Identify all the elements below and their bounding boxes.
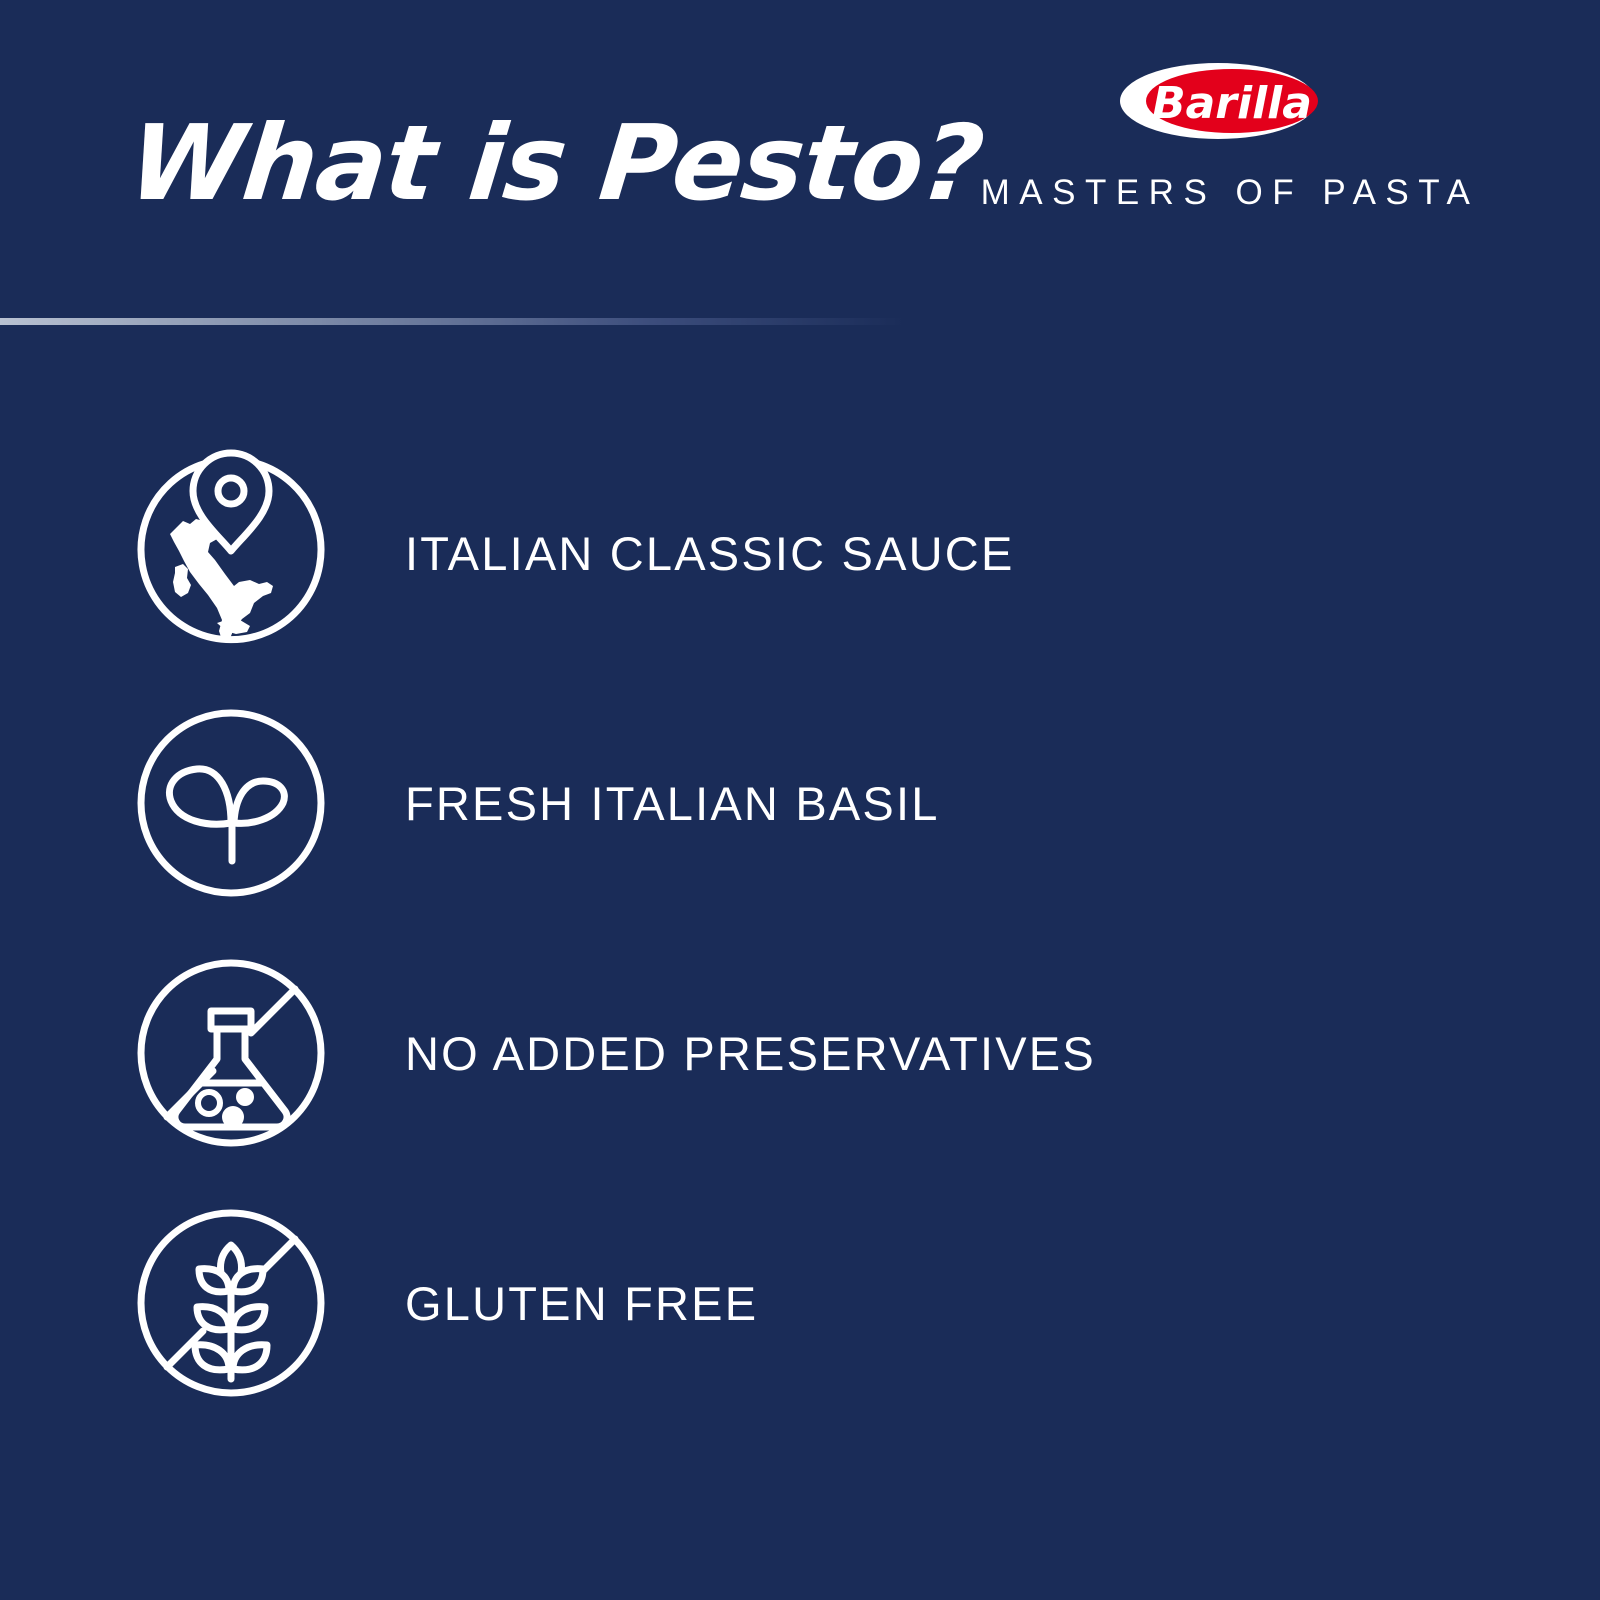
brand-tagline: MASTERS OF PASTA (930, 173, 1530, 213)
no-flask-icon (133, 955, 329, 1151)
header-divider (0, 318, 905, 325)
feature-row: FRESH ITALIAN BASIL (0, 705, 1600, 955)
feature-list: ITALIAN CLASSIC SAUCE FRESH ITALIAN (0, 455, 1600, 1455)
basil-leaves-icon (133, 705, 329, 901)
page-title: What is Pesto? (122, 88, 958, 238)
feature-label: ITALIAN CLASSIC SAUCE (405, 455, 1015, 651)
italy-map-pin-icon (133, 455, 329, 651)
feature-row: GLUTEN FREE (0, 1205, 1600, 1455)
no-wheat-icon (133, 1205, 329, 1401)
barilla-logo: Barilla (1120, 55, 1330, 147)
feature-row: ITALIAN CLASSIC SAUCE (0, 455, 1600, 705)
flask-shape (175, 1011, 287, 1128)
header: What is Pesto? Barilla MASTERS OF PASTA (0, 0, 1600, 320)
feature-label: NO ADDED PRESERVATIVES (405, 955, 1096, 1151)
infographic-canvas: What is Pesto? Barilla MASTERS OF PASTA (0, 0, 1600, 1600)
wheat-shape (195, 1245, 267, 1379)
brand-block: Barilla MASTERS OF PASTA (930, 55, 1530, 230)
barilla-wordmark: Barilla (1152, 78, 1312, 129)
feature-label: GLUTEN FREE (405, 1205, 758, 1401)
feature-row: NO ADDED PRESERVATIVES (0, 955, 1600, 1205)
feature-label: FRESH ITALIAN BASIL (405, 705, 940, 901)
